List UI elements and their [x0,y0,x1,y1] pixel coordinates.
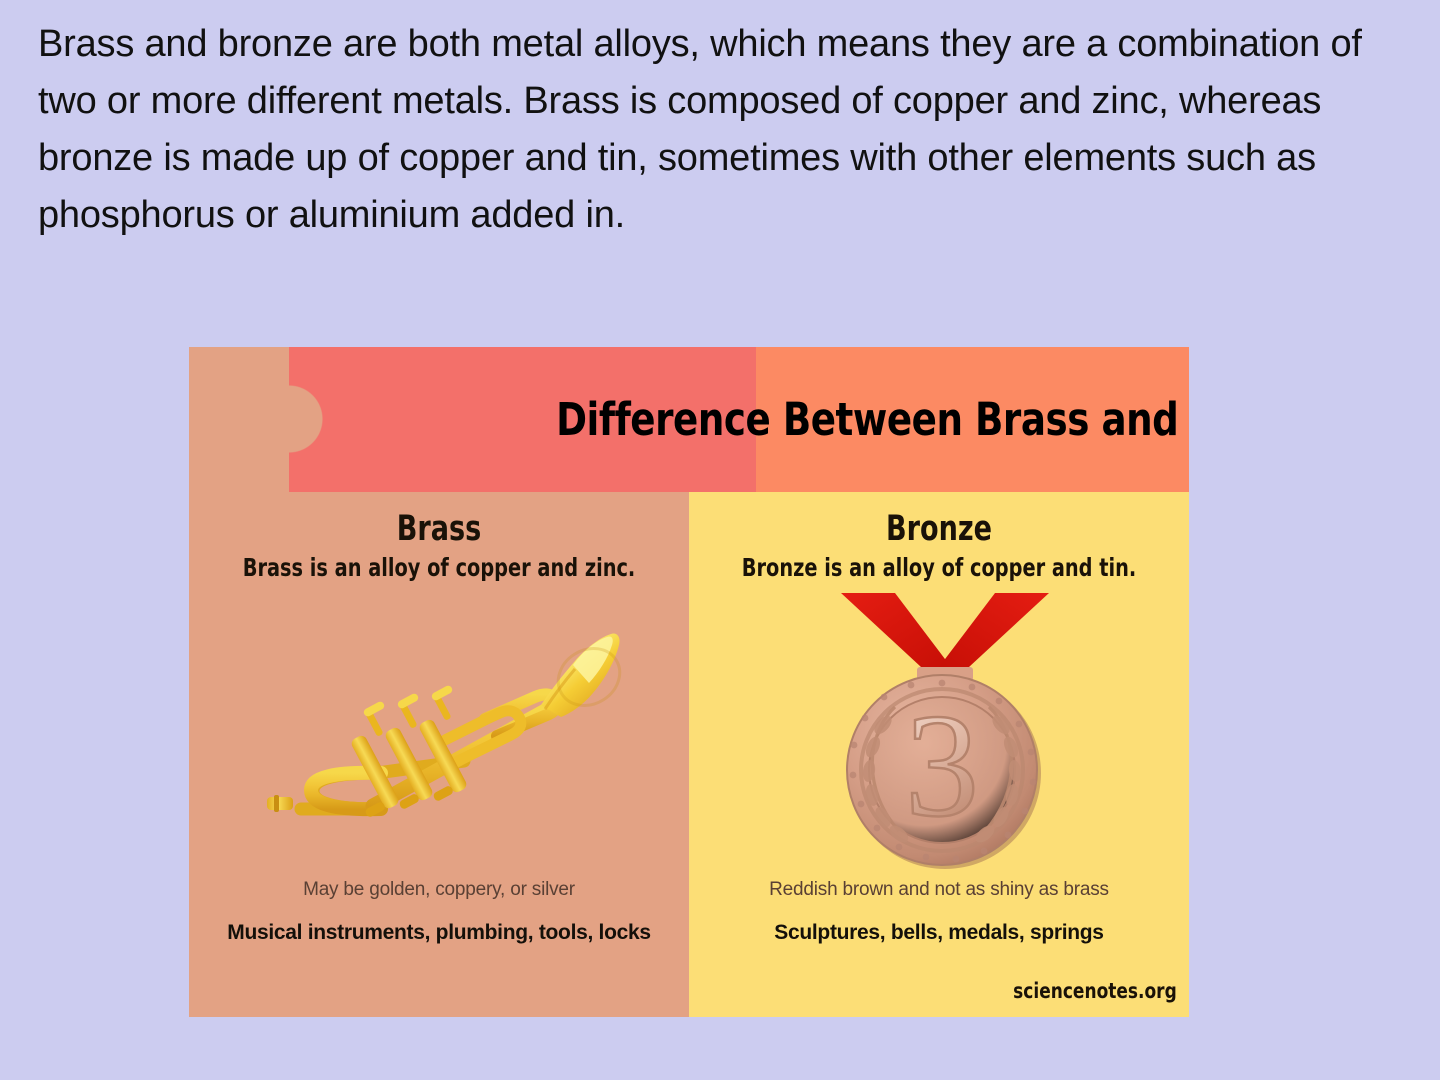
column-heading-bronze: Bronze [724,509,1154,549]
uses-list-brass: Musical instruments, plumbing, tools, lo… [189,921,689,945]
appearance-note-bronze: Reddish brown and not as shiny as brass [689,879,1189,901]
artwork-area-brass [189,583,689,873]
infographic-card: Brass Brass is an alloy of copper and zi… [189,347,1189,1017]
column-definition-bronze: Bronze is an alloy of copper and tin. [724,553,1154,582]
medal-number: 3 [905,684,979,848]
column-definition-brass: Brass is an alloy of copper and zinc. [224,553,654,582]
slide-body-paragraph: Brass and bronze are both metal alloys, … [38,16,1368,244]
appearance-note-brass: May be golden, coppery, or silver [189,879,689,901]
trumpet-icon [249,613,629,843]
bronze-medal-icon: 3 [799,583,1079,873]
infographic-title: Difference Between Brass and Bronze [515,347,1189,492]
column-heading-brass: Brass [224,509,654,549]
artwork-area-bronze: 3 [689,583,1189,873]
uses-list-bronze: Sculptures, bells, medals, springs [689,921,1189,945]
source-watermark: sciencenotes.org [1013,979,1177,1003]
